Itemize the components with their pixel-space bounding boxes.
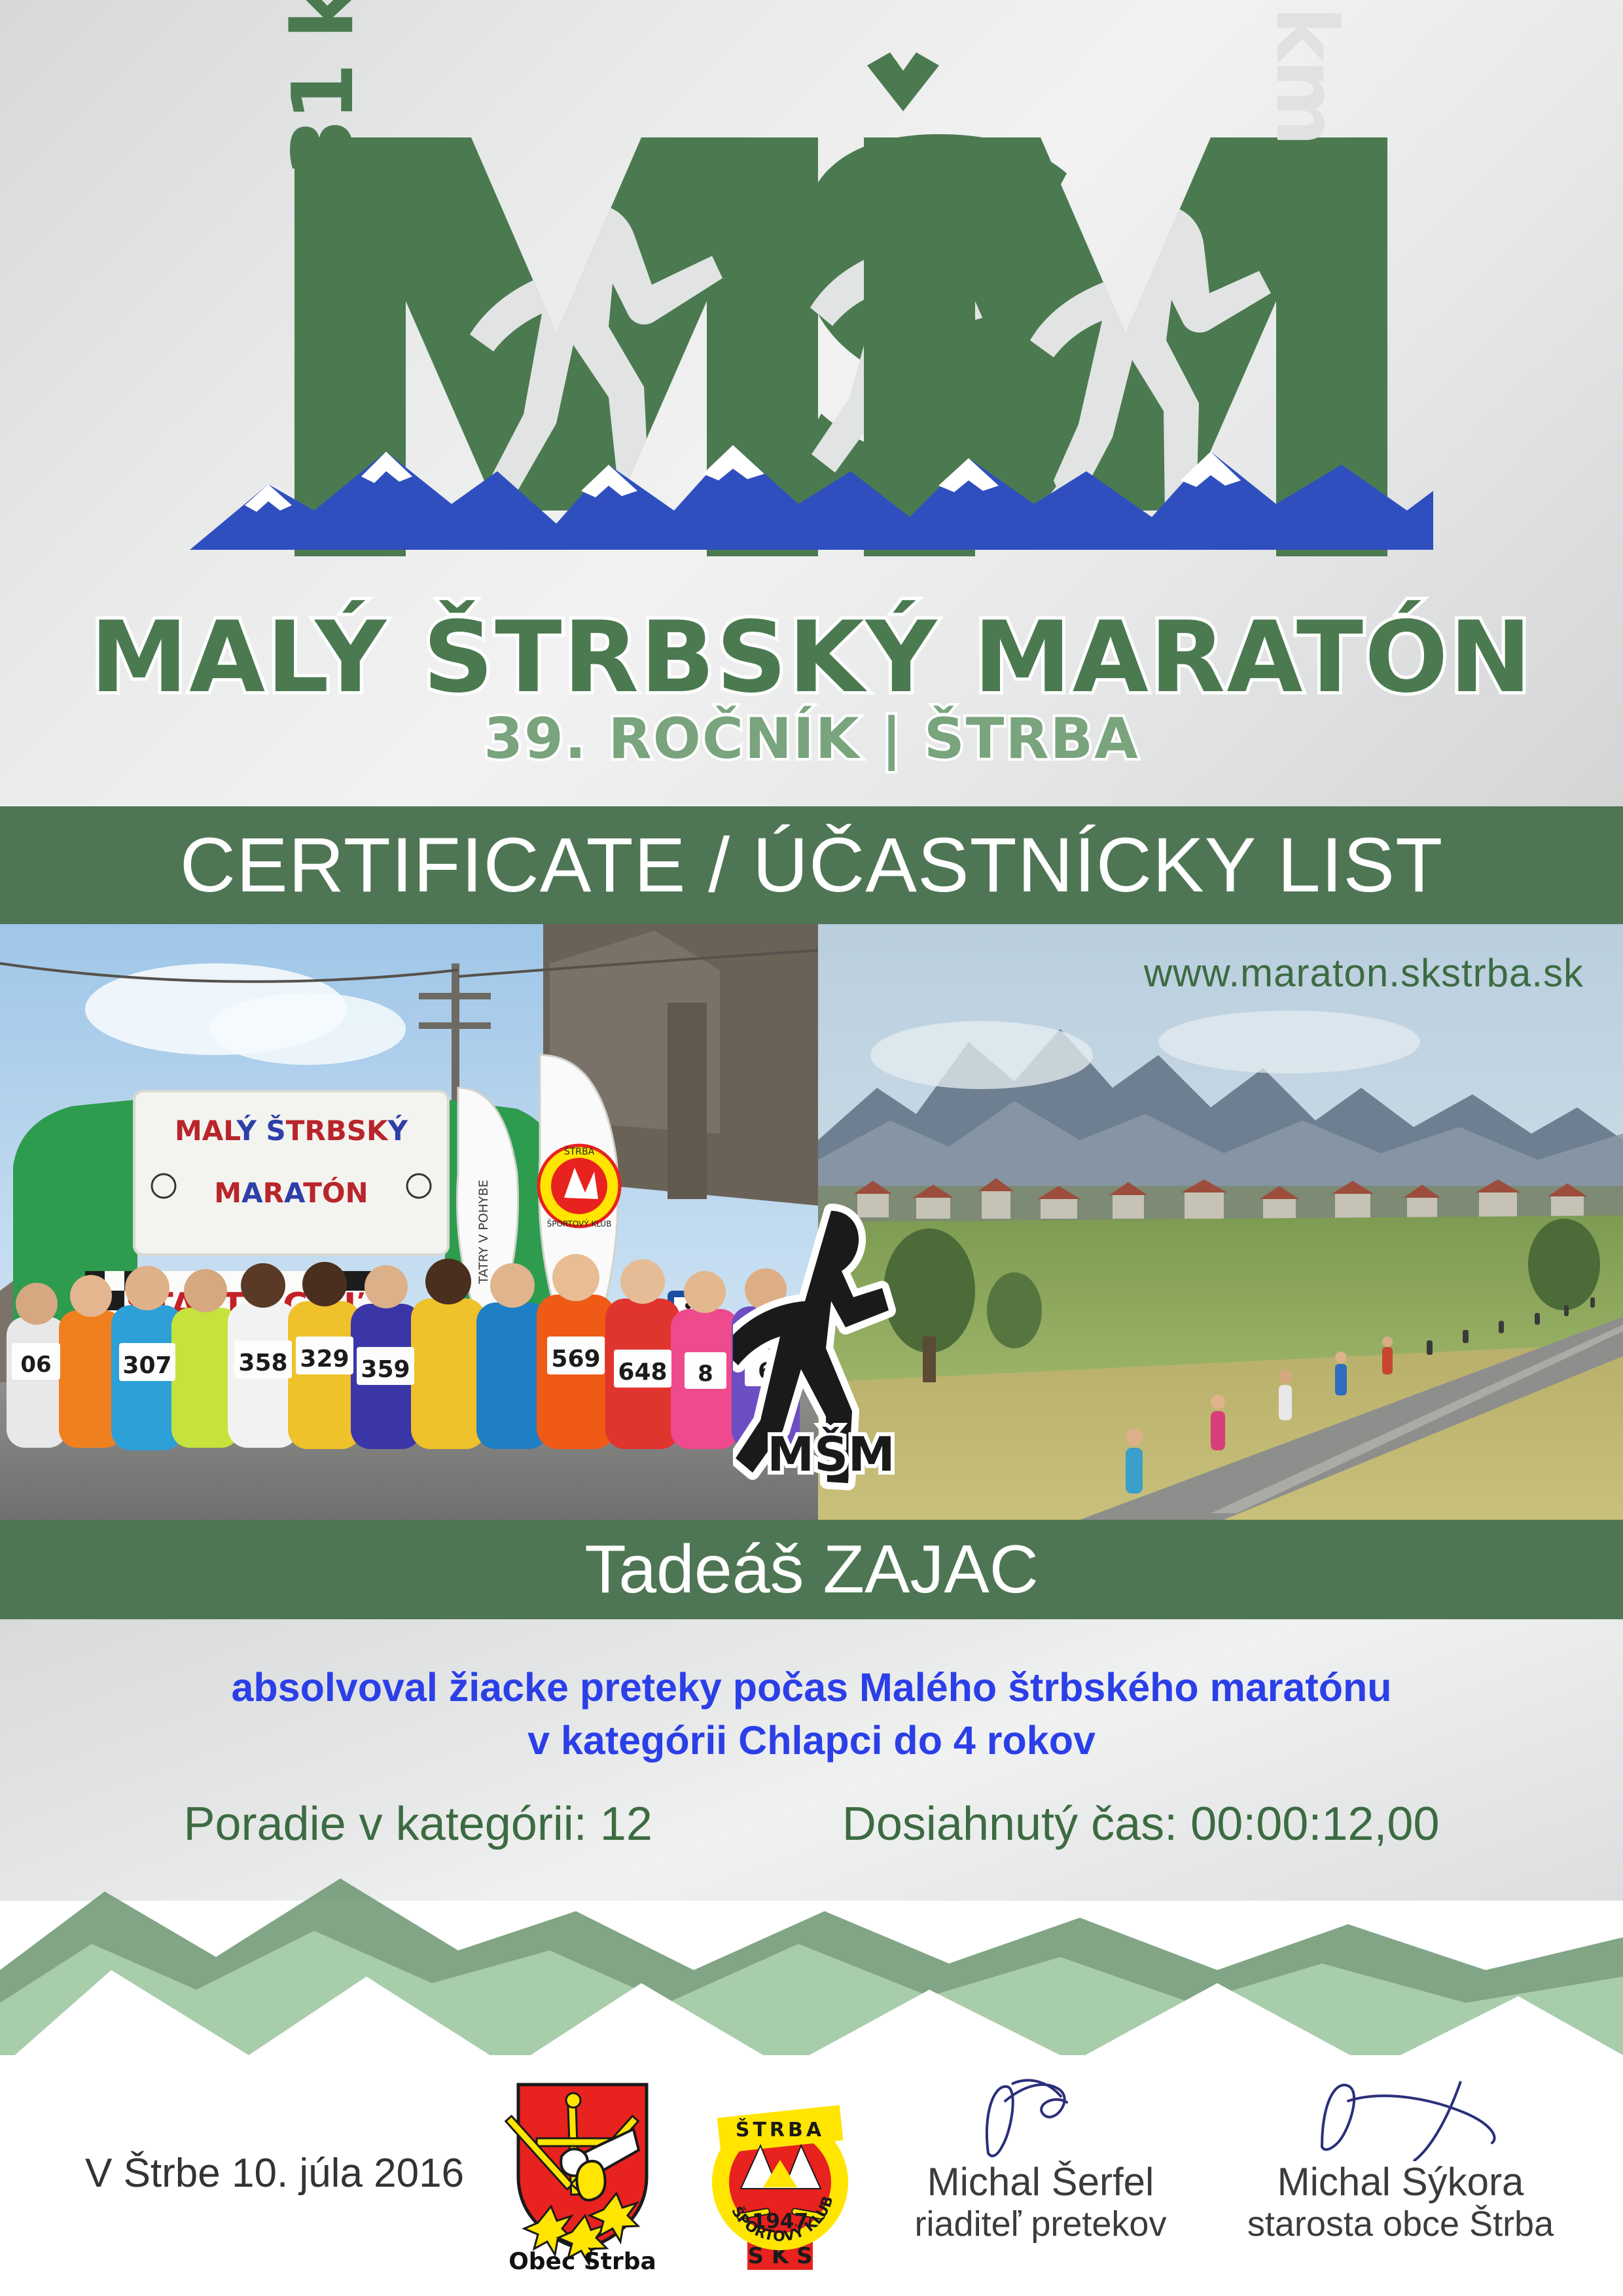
participant-name-banner: Tadeáš ZAJAC bbox=[0, 1520, 1623, 1619]
svg-text:06: 06 bbox=[20, 1352, 51, 1378]
result-body: absolvoval žiacke preteky počas Malého š… bbox=[0, 1619, 1623, 1901]
mountain-range-icon bbox=[190, 425, 1433, 550]
svg-text:TATRY V POHYBE: TATRY V POHYBE bbox=[476, 1179, 491, 1284]
signature-scribble-icon bbox=[1217, 2075, 1584, 2161]
distance-left-label: 31 km bbox=[275, 0, 372, 177]
rank-value: 12 bbox=[600, 1798, 652, 1850]
certificate-footer: V Štrbe 10. júla 2016 bbox=[0, 2055, 1623, 2296]
rank-stat: Poradie v kategórii: 12 bbox=[183, 1797, 652, 1851]
signature-block-director: Michal Šerfel riaditeľ pretekov bbox=[857, 2075, 1224, 2246]
svg-text:MARATÓN: MARATÓN bbox=[214, 1176, 368, 1209]
time-label: Dosiahnutý čas: bbox=[842, 1798, 1190, 1850]
time-value: 00:00:12,00 bbox=[1190, 1798, 1439, 1850]
svg-text:359: 359 bbox=[361, 1356, 410, 1383]
signature-role: starosta obce Štrba bbox=[1217, 2204, 1584, 2246]
certificate-banner-label: CERTIFICATE / ÚČASTNÍCKY LIST bbox=[180, 827, 1443, 904]
rank-label: Poradie v kategórii: bbox=[183, 1798, 599, 1850]
photo-start-line: MALÝ ŠTRBSKÝ MARATÓN ŠTART - CIEĽ bbox=[0, 924, 818, 1520]
obec-strba-crest-icon: Obec Štrba bbox=[504, 2078, 661, 2274]
signature-block-mayor: Michal Sýkora starosta obce Štrba bbox=[1217, 2075, 1584, 2246]
website-url[interactable]: www.maraton.skstrba.sk bbox=[1144, 950, 1584, 996]
description-line-1: absolvoval žiacke preteky počas Malého š… bbox=[0, 1661, 1623, 1714]
sks-club-crest-icon: Š K Š ŠTRBA 1947 ŠPORTOVÝ KLUB bbox=[700, 2083, 861, 2272]
result-stats: Poradie v kategórii: 12 Dosiahnutý čas: … bbox=[0, 1797, 1623, 1851]
svg-text:307: 307 bbox=[122, 1352, 171, 1379]
svg-text:648: 648 bbox=[618, 1359, 667, 1386]
svg-text:MŠM: MŠM bbox=[767, 1427, 895, 1482]
certificate-page: 31 km 10 km MALÝ ŠTRBSKÝ MARATÓN 39. ROČ… bbox=[0, 0, 1623, 2296]
time-stat: Dosiahnutý čas: 00:00:12,00 bbox=[842, 1797, 1440, 1851]
svg-text:329: 329 bbox=[300, 1346, 349, 1372]
photo-tatra-panorama bbox=[818, 924, 1623, 1520]
hero-logo-area: 31 km 10 km MALÝ ŠTRBSKÝ MARATÓN 39. ROČ… bbox=[0, 0, 1623, 806]
msm-logo: 31 km 10 km bbox=[190, 26, 1433, 615]
certificate-banner: CERTIFICATE / ÚČASTNÍCKY LIST bbox=[0, 806, 1623, 924]
signature-scribble-icon bbox=[857, 2075, 1224, 2161]
signature-name: Michal Sýkora bbox=[1217, 2161, 1584, 2204]
place-and-date: V Štrbe 10. júla 2016 bbox=[85, 2150, 464, 2197]
event-subtitle: 39. ROČNÍK | ŠTRBA bbox=[0, 711, 1623, 767]
signature-role: riaditeľ pretekov bbox=[857, 2204, 1224, 2246]
svg-text:MALÝ ŠTRBSKÝ: MALÝ ŠTRBSKÝ bbox=[175, 1114, 408, 1147]
svg-text:8: 8 bbox=[698, 1361, 713, 1387]
result-description: absolvoval žiacke preteky počas Malého š… bbox=[0, 1661, 1623, 1767]
svg-text:ŠTRBA: ŠTRBA bbox=[736, 2117, 825, 2142]
svg-text:ŠTRBA: ŠTRBA bbox=[564, 1145, 595, 1157]
svg-text:569: 569 bbox=[551, 1346, 600, 1372]
description-line-2: v kategórii Chlapci do 4 rokov bbox=[0, 1714, 1623, 1767]
msm-runner-badge-icon: MŠM bbox=[733, 1185, 929, 1499]
event-title: MALÝ ŠTRBSKÝ MARATÓN bbox=[0, 609, 1623, 707]
svg-text:ŠPORTOVÝ KLUB: ŠPORTOVÝ KLUB bbox=[547, 1219, 612, 1229]
svg-text:Obec Štrba: Obec Štrba bbox=[508, 2248, 656, 2274]
participant-name: Tadeáš ZAJAC bbox=[584, 1535, 1039, 1604]
distance-right-label: 10 km bbox=[1257, 0, 1355, 144]
svg-text:358: 358 bbox=[238, 1350, 287, 1376]
signature-name: Michal Šerfel bbox=[857, 2161, 1224, 2204]
